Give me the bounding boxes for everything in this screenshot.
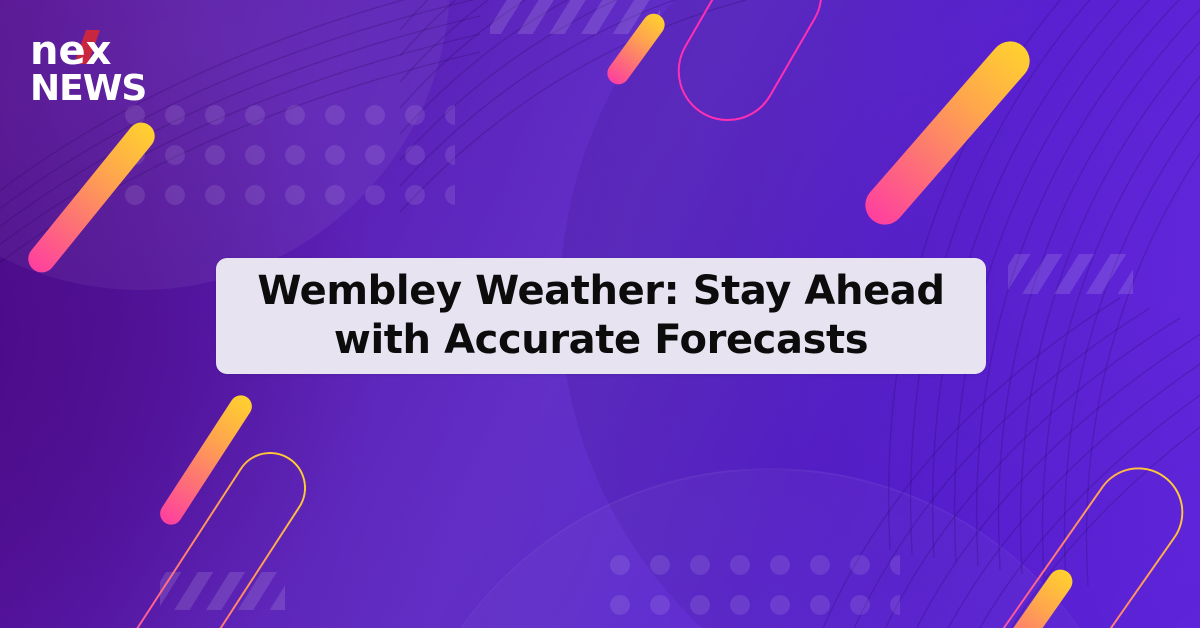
logo-word-news: NEWS: [30, 68, 146, 108]
article-banner: nex NEWS Wembley Weather: Stay Ahead wit…: [0, 0, 1200, 628]
headline-card: Wembley Weather: Stay Ahead with Accurat…: [216, 258, 986, 374]
stripe-block-top: [490, 0, 660, 34]
stripe-block-right: [1008, 254, 1133, 294]
dot-grid-top-left: [115, 95, 455, 225]
page-title: Wembley Weather: Stay Ahead with Accurat…: [216, 267, 986, 365]
nex-news-logo[interactable]: nex NEWS: [26, 22, 146, 108]
dot-grid-bottom-center: [600, 545, 900, 628]
